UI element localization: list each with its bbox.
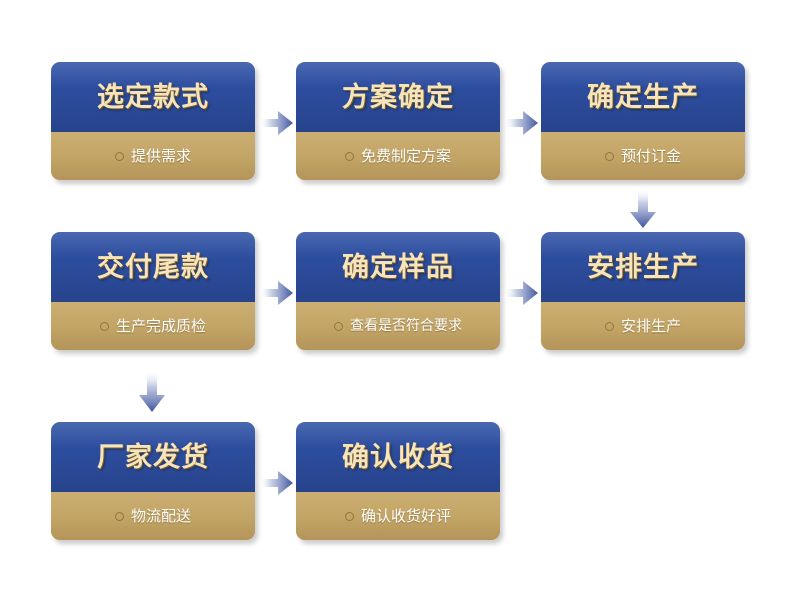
- arrow-n4-to-n5: [259, 278, 293, 308]
- node-header: 交付尾款: [51, 232, 255, 302]
- flow-node-4[interactable]: 交付尾款 生产完成质检: [51, 232, 255, 350]
- flow-node-6[interactable]: 安排生产 安排生产: [541, 232, 745, 350]
- flow-node-1[interactable]: 选定款式 提供需求: [51, 62, 255, 180]
- node-subtitle: 免费制定方案: [361, 149, 451, 164]
- circle-bullet-icon: [115, 512, 124, 521]
- node-footer: 安排生产: [541, 302, 745, 350]
- node-header: 确定样品: [296, 232, 500, 302]
- node-subtitle: 安排生产: [621, 319, 681, 334]
- circle-bullet-icon: [605, 152, 614, 161]
- node-subtitle: 提供需求: [131, 149, 191, 164]
- circle-bullet-icon: [345, 512, 354, 521]
- arrow-n4-to-n7: [137, 370, 167, 412]
- circle-bullet-icon: [115, 152, 124, 161]
- node-footer: 提供需求: [51, 132, 255, 180]
- node-subtitle: 预付订金: [621, 149, 681, 164]
- circle-bullet-icon: [345, 152, 354, 161]
- node-footer: 物流配送: [51, 492, 255, 540]
- flow-node-7[interactable]: 厂家发货 物流配送: [51, 422, 255, 540]
- node-header: 选定款式: [51, 62, 255, 132]
- node-title: 确定样品: [342, 254, 454, 281]
- node-subtitle: 物流配送: [131, 509, 191, 524]
- arrow-n7-to-n8: [259, 468, 293, 498]
- node-footer: 免费制定方案: [296, 132, 500, 180]
- circle-bullet-icon: [100, 322, 109, 331]
- node-header: 方案确定: [296, 62, 500, 132]
- node-title: 方案确定: [342, 84, 454, 111]
- node-footer: 查看是否符合要求: [296, 302, 500, 350]
- node-footer: 确认收货好评: [296, 492, 500, 540]
- flow-node-3[interactable]: 确定生产 预付订金: [541, 62, 745, 180]
- node-subtitle: 确认收货好评: [361, 509, 451, 524]
- node-subtitle: 生产完成质检: [116, 319, 206, 334]
- node-title: 确定生产: [587, 84, 699, 111]
- flowchart-canvas: 选定款式 提供需求 方案确定 免费制定方案 确定生产 预付订金 交付尾款: [0, 0, 790, 594]
- node-subtitle: 查看是否符合要求: [350, 319, 462, 333]
- circle-bullet-icon: [334, 322, 343, 331]
- arrow-n1-to-n2: [259, 108, 293, 138]
- arrow-n3-to-n6: [628, 188, 658, 228]
- arrow-n2-to-n3: [504, 108, 538, 138]
- flow-node-5[interactable]: 确定样品 查看是否符合要求: [296, 232, 500, 350]
- node-header: 厂家发货: [51, 422, 255, 492]
- node-header: 确认收货: [296, 422, 500, 492]
- node-header: 确定生产: [541, 62, 745, 132]
- node-header: 安排生产: [541, 232, 745, 302]
- node-title: 厂家发货: [97, 444, 209, 471]
- node-footer: 生产完成质检: [51, 302, 255, 350]
- flow-node-2[interactable]: 方案确定 免费制定方案: [296, 62, 500, 180]
- node-title: 确认收货: [342, 444, 454, 471]
- node-title: 选定款式: [97, 84, 209, 111]
- arrow-n5-to-n6: [504, 278, 538, 308]
- node-footer: 预付订金: [541, 132, 745, 180]
- circle-bullet-icon: [605, 322, 614, 331]
- node-title: 安排生产: [587, 254, 699, 281]
- node-title: 交付尾款: [97, 254, 209, 281]
- flow-node-8[interactable]: 确认收货 确认收货好评: [296, 422, 500, 540]
